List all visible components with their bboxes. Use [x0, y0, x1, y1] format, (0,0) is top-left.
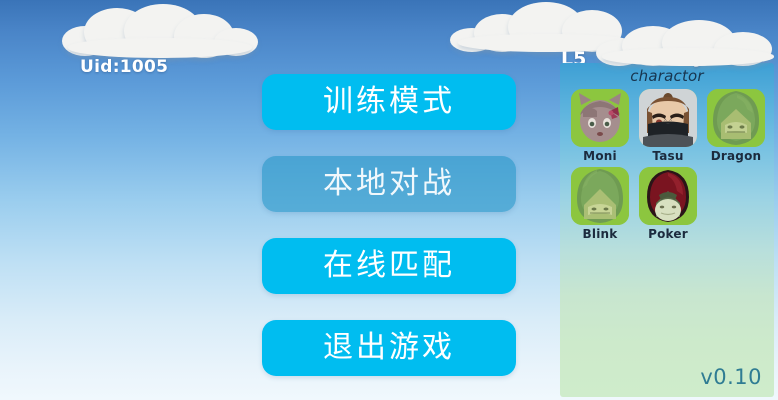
moni-avatar-icon — [571, 89, 629, 147]
character-cell-blink[interactable]: Blink — [566, 167, 634, 241]
character-grid: Moni ^_^ — [560, 85, 774, 245]
svg-text:^_^: ^_^ — [664, 119, 672, 125]
character-portrait-moni[interactable] — [571, 89, 629, 147]
character-portrait-blink[interactable] — [571, 167, 629, 225]
character-panel: charactor — [560, 63, 774, 397]
uid-label: Uid:1005 — [80, 57, 168, 77]
character-name-tasu: Tasu — [652, 149, 683, 163]
character-cell-dragon[interactable]: Dragon — [702, 89, 770, 163]
cloud-right-top — [450, 2, 640, 52]
menu-button-local-battle[interactable]: 本地对战 — [262, 156, 516, 212]
menu-button-training-mode[interactable]: 训练模式 — [262, 74, 516, 130]
money-label: Money:20 — [634, 46, 739, 68]
character-cell-tasu[interactable]: ^_^ Tasu — [634, 89, 702, 163]
main-menu: 训练模式 本地对战 在线匹配 退出游戏 — [262, 74, 516, 400]
menu-button-online-match[interactable]: 在线匹配 — [262, 238, 516, 294]
character-portrait-poker[interactable] — [639, 167, 697, 225]
poker-avatar-icon — [639, 167, 697, 225]
cloud-left — [62, 4, 262, 56]
character-cell-poker[interactable]: Poker — [634, 167, 702, 241]
menu-button-quit-game[interactable]: 退出游戏 — [262, 320, 516, 376]
character-name-blink: Blink — [583, 227, 618, 241]
character-name-dragon: Dragon — [711, 149, 762, 163]
character-cell-moni[interactable]: Moni — [566, 89, 634, 163]
character-name-moni: Moni — [583, 149, 617, 163]
character-name-poker: Poker — [648, 227, 688, 241]
dragon-avatar-icon — [707, 89, 765, 147]
game-main-menu-screen: Uid:1005 L5 Money:20 训练模式 本地对战 在线匹配 退出游戏… — [0, 0, 778, 400]
character-portrait-dragon[interactable] — [707, 89, 765, 147]
blink-avatar-icon — [571, 167, 629, 225]
character-portrait-tasu[interactable]: ^_^ — [639, 89, 697, 147]
tasu-avatar-icon: ^_^ — [639, 89, 697, 147]
version-label: v0.10 — [700, 365, 762, 389]
